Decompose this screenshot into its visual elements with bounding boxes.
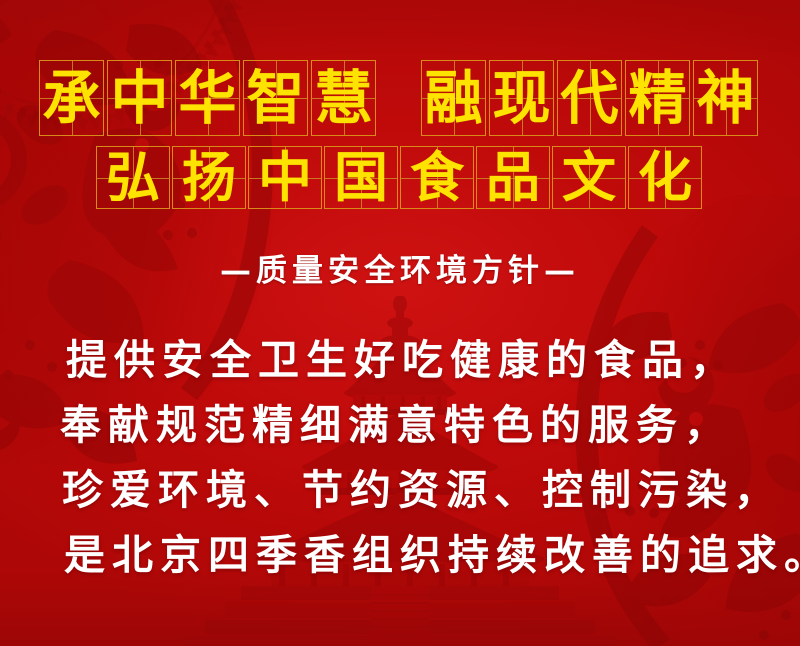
headline-cell: 品 — [476, 146, 550, 209]
headline-char: 食 — [410, 151, 464, 205]
headline-char: 融 — [424, 69, 482, 127]
headline-cell: 神 — [693, 60, 758, 136]
headline-char: 承 — [42, 69, 100, 127]
headline-cell: 扬 — [172, 146, 246, 209]
headline-cell: 国 — [324, 146, 398, 209]
headline-char: 慧 — [314, 69, 372, 127]
headline-group-c: 弘 扬 中 国 食 品 文 化 — [96, 146, 704, 209]
headline-char: 中 — [258, 151, 312, 205]
headline-cell: 承 — [39, 60, 104, 136]
headline-group-b: 融 现 代 精 神 — [421, 60, 761, 136]
headline-char: 智 — [246, 69, 304, 127]
policy-line: 提供安全卫生好吃健康的食品， — [0, 328, 800, 393]
headline-char: 代 — [560, 69, 618, 127]
headline-cell: 现 — [489, 60, 554, 136]
headline-char: 神 — [696, 69, 754, 127]
headline-char: 化 — [638, 151, 692, 205]
headline-cell: 文 — [552, 146, 626, 209]
headline-cell: 融 — [421, 60, 486, 136]
headline-cell: 智 — [243, 60, 308, 136]
headline-cell: 食 — [400, 146, 474, 209]
headline-char: 品 — [486, 151, 540, 205]
headline-cell: 精 — [625, 60, 690, 136]
headline-char: 国 — [334, 151, 388, 205]
policy-subtitle: —质量安全环境方针— — [0, 245, 800, 290]
headline-cell: 代 — [557, 60, 622, 136]
headline-char: 扬 — [182, 151, 236, 205]
headline-cell: 中 — [248, 146, 322, 209]
headline-char: 文 — [562, 151, 616, 205]
headline-group-a: 承 中 华 智 慧 — [39, 60, 379, 136]
headline-cell: 弘 — [96, 146, 170, 209]
headline-char: 弘 — [106, 151, 160, 205]
policy-line: 是北京四季香组织持续改善的追求。 — [0, 523, 800, 588]
headline-char: 中 — [110, 69, 168, 127]
policy-line: 珍爱环境、节约资源、控制污染， — [0, 458, 800, 523]
culture-poster: 承 中 华 智 慧 融 现 代 精 神 弘 扬 中 国 食 品 文 化 —质量安… — [0, 0, 800, 646]
headline-line-2: 弘 扬 中 国 食 品 文 化 — [0, 146, 800, 209]
headline-cell: 化 — [628, 146, 702, 209]
headline-cell: 慧 — [311, 60, 376, 136]
headline-cell: 华 — [175, 60, 240, 136]
policy-line: 奉献规范精细满意特色的服务， — [0, 393, 800, 458]
policy-body: 提供安全卫生好吃健康的食品， 奉献规范精细满意特色的服务， 珍爱环境、节约资源、… — [0, 328, 800, 588]
headline-char: 精 — [628, 69, 686, 127]
headline-char: 华 — [178, 69, 236, 127]
headline-cell: 中 — [107, 60, 172, 136]
headline-line-1: 承 中 华 智 慧 融 现 代 精 神 — [0, 60, 800, 136]
headline-char: 现 — [492, 69, 550, 127]
